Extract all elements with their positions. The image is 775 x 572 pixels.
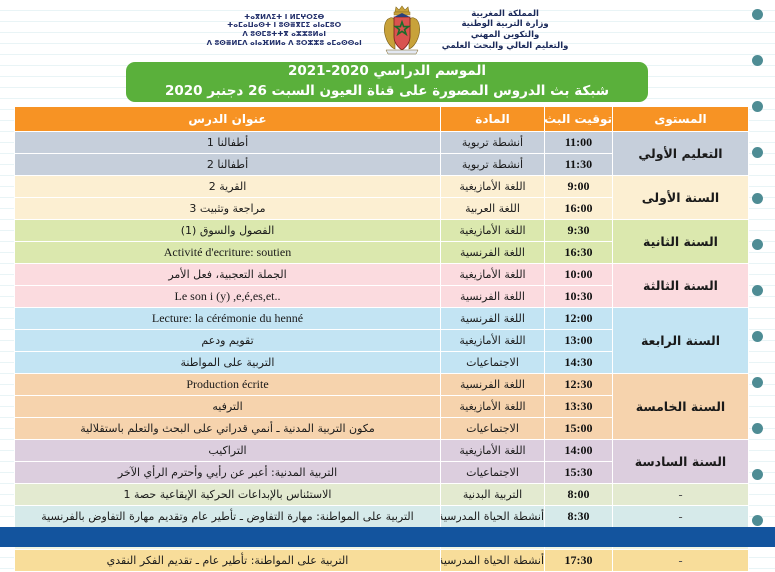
cell-broadcast-time: 9:30 [545,220,613,242]
decorative-dot [752,423,763,434]
column-header-time: توقيت البث [545,107,613,132]
table-row: السنة الأولى9:00اللغة الأمازيغيةالقرية 2 [15,176,749,198]
cell-subject: اللغة الفرنسية [441,242,545,264]
cell-subject: اللغة الأمازيغية [441,440,545,462]
decorative-dot [752,377,763,388]
cell-level: - [613,550,749,572]
cell-lesson-title: Production écrite [15,374,441,396]
decorative-dot [752,515,763,526]
ministry-arabic-line-2: وزارة التربية الوطنية [442,19,569,30]
broadcast-subtitle: شبكة بث الدروس المصورة على قناة العيون ا… [165,82,609,102]
cell-subject: الاجتماعيات [441,352,545,374]
table-header: المستوى توقيت البث المادة عنوان الدرس [15,107,749,132]
cell-subject: أنشطة تربوية [441,154,545,176]
table-row: -8:00التربية البدنيةالاستئناس بالإبداعات… [15,484,749,506]
decorative-dot [752,469,763,480]
cell-subject: اللغة العربية [441,198,545,220]
cell-lesson-title: التربية على المواطنة: تأطير عام ـ تقديم … [15,550,441,572]
cell-broadcast-time: 14:30 [545,352,613,374]
ministry-arabic-line-3: والتكوين المهني [442,30,569,41]
cell-lesson-title: Lecture: la cérémonie du henné [15,308,441,330]
cell-level: السنة الثالثة [613,264,749,308]
cell-lesson-title: التراكيب [15,440,441,462]
table-row: التعليم الأولي11:00أنشطة تربويةأطفالنا 1 [15,132,749,154]
cell-level: - [613,506,749,528]
table-row: السنة الخامسة12:30اللغة الفرنسيةProducti… [15,374,749,396]
cell-lesson-title: مراجعة وتثبيت 3 [15,198,441,220]
ministry-tifinagh-line-4: ⴷ ⵓⵙⴻⵍⵎⴷ ⴰⵏⴰⴼⵍⵍⴰ ⴷ ⵓⵔⵣⵣⵓ ⴰⵎⴰⵙⵙⴰⵏ [207,39,362,48]
cell-broadcast-time: 16:30 [545,242,613,264]
cell-lesson-title: التربية على المواطنة [15,352,441,374]
decorative-dot [752,331,763,342]
table-row: السنة السادسة14:00اللغة الأمازيغيةالتراك… [15,440,749,462]
cell-subject: التربية البدنية [441,484,545,506]
cell-broadcast-time: 8:00 [545,484,613,506]
cell-broadcast-time: 13:00 [545,330,613,352]
ministry-tifinagh-line-2: ⵜⴰⵎⴰⵡⴰⵙⵜ ⵏ ⵓⵙⴻⴳⵎⵉ ⴰⵏⴰⵎⵓⵔ [207,21,362,30]
cell-lesson-title: التربية على المواطنة: مهارة التفاوض ـ تأ… [15,506,441,528]
cell-level: السنة الثانية [613,220,749,264]
cell-lesson-title: أطفالنا 2 [15,154,441,176]
cell-lesson-title: الترفيه [15,396,441,418]
cell-lesson-title: تقويم ودعم [15,330,441,352]
cell-subject: اللغة الفرنسية [441,374,545,396]
column-header-subject: المادة [441,107,545,132]
cell-lesson-title: مكون التربية المدنية ـ أنمي قدراتي على ا… [15,418,441,440]
cell-broadcast-time: 13:30 [545,396,613,418]
cell-level: السنة الخامسة [613,374,749,440]
ministry-tifinagh-line-3: ⴷ ⵓⵙⵎⵓⵜⵜⴳ ⴰⵣⵣⵓⵍⴰⵏ [207,30,362,39]
schedule-title-banner: الموسم الدراسي 2020-2021 شبكة بث الدروس … [126,62,648,102]
column-header-title: عنوان الدرس [15,107,441,132]
cell-lesson-title: الفصول والسوق (1) [15,220,441,242]
decorative-dot [752,101,763,112]
cell-subject: الاجتماعيات [441,462,545,484]
decorative-dot [752,193,763,204]
cell-broadcast-time: 9:00 [545,176,613,198]
cell-subject: اللغة الفرنسية [441,308,545,330]
schedule-page: المملكة المغربية وزارة التربية الوطنية و… [0,0,775,547]
table-row: -8:30أنشطة الحياة المدرسيةالتربية على ال… [15,506,749,528]
cell-broadcast-time: 10:30 [545,286,613,308]
cell-subject: اللغة الأمازيغية [441,176,545,198]
ministry-arabic-line-1: المملكة المغربية [442,9,569,20]
ministry-header: المملكة المغربية وزارة التربية الوطنية و… [0,2,775,58]
decorative-dot [752,55,763,66]
cell-subject: الاجتماعيات [441,418,545,440]
cell-broadcast-time: 17:30 [545,550,613,572]
cell-level: السنة الرابعة [613,308,749,374]
cell-subject: اللغة الفرنسية [441,286,545,308]
table-row: السنة الرابعة12:00اللغة الفرنسيةLecture:… [15,308,749,330]
cell-broadcast-time: 11:00 [545,132,613,154]
cell-level: التعليم الأولي [613,132,749,176]
cell-broadcast-time: 11:30 [545,154,613,176]
cell-subject: أنشطة الحياة المدرسية [441,506,545,528]
broadcast-schedule-table: المستوى توقيت البث المادة عنوان الدرس ال… [14,106,749,572]
cell-broadcast-time: 14:00 [545,440,613,462]
cell-broadcast-time: 12:00 [545,308,613,330]
side-dot-rail [743,0,767,547]
cell-level: السنة الأولى [613,176,749,220]
cell-lesson-title: Activité d'ecriture: soutien [15,242,441,264]
column-header-level: المستوى [613,107,749,132]
cell-broadcast-time: 8:30 [545,506,613,528]
cell-broadcast-time: 16:00 [545,198,613,220]
decorative-dot [752,9,763,20]
cell-level: السنة السادسة [613,440,749,484]
table-header-row: المستوى توقيت البث المادة عنوان الدرس [15,107,749,132]
cell-level: - [613,484,749,506]
cell-subject: أنشطة تربوية [441,132,545,154]
cell-subject: اللغة الأمازيغية [441,264,545,286]
cell-broadcast-time: 12:30 [545,374,613,396]
cell-lesson-title: أطفالنا 1 [15,132,441,154]
table-row: السنة الثانية9:30اللغة الأمازيغيةالفصول … [15,220,749,242]
school-year-title: الموسم الدراسي 2020-2021 [288,62,486,82]
table-row: السنة الثالثة10:00اللغة الأمازيغيةالجملة… [15,264,749,286]
cell-lesson-title: Le son i (y) ,e,é,es,et.. [15,286,441,308]
cell-lesson-title: القرية 2 [15,176,441,198]
cell-subject: اللغة الأمازيغية [441,330,545,352]
decorative-dot [752,239,763,250]
cell-subject: اللغة الأمازيغية [441,220,545,242]
cell-broadcast-time: 15:30 [545,462,613,484]
cell-broadcast-time: 15:00 [545,418,613,440]
ministry-name-arabic: المملكة المغربية وزارة التربية الوطنية و… [442,9,569,52]
ministry-tifinagh-line-1: ⵜⴰⴳⵍⴷⵉⵜ ⵏ ⵍⵎⵖⵔⵉⴱ [207,13,362,22]
ministry-name-tifinagh: ⵜⴰⴳⵍⴷⵉⵜ ⵏ ⵍⵎⵖⵔⵉⴱ ⵜⴰⵎⴰⵡⴰⵙⵜ ⵏ ⵓⵙⴻⴳⵎⵉ ⴰⵏⴰⵎⵓ… [207,13,362,48]
cell-lesson-title: الجملة التعجبية، فعل الأمر [15,264,441,286]
cell-lesson-title: التربية المدنية: أعبر عن رأيي وأحترم الر… [15,462,441,484]
cell-subject: اللغة الأمازيغية [441,396,545,418]
ministry-arabic-line-4: والتعليم العالي والبحث العلمي [442,41,569,52]
decorative-dot [752,147,763,158]
table-row: -17:30أنشطة الحياة المدرسيةالتربية على ا… [15,550,749,572]
cell-subject: أنشطة الحياة المدرسية [441,550,545,572]
cell-lesson-title: الاستئناس بالإبداعات الحركية الإيقاعية ح… [15,484,441,506]
table-body: التعليم الأولي11:00أنشطة تربويةأطفالنا 1… [15,132,749,572]
decorative-dot [752,285,763,296]
bottom-accent-bar [0,527,775,547]
moroccan-coat-of-arms-icon [380,4,424,56]
cell-broadcast-time: 10:00 [545,264,613,286]
